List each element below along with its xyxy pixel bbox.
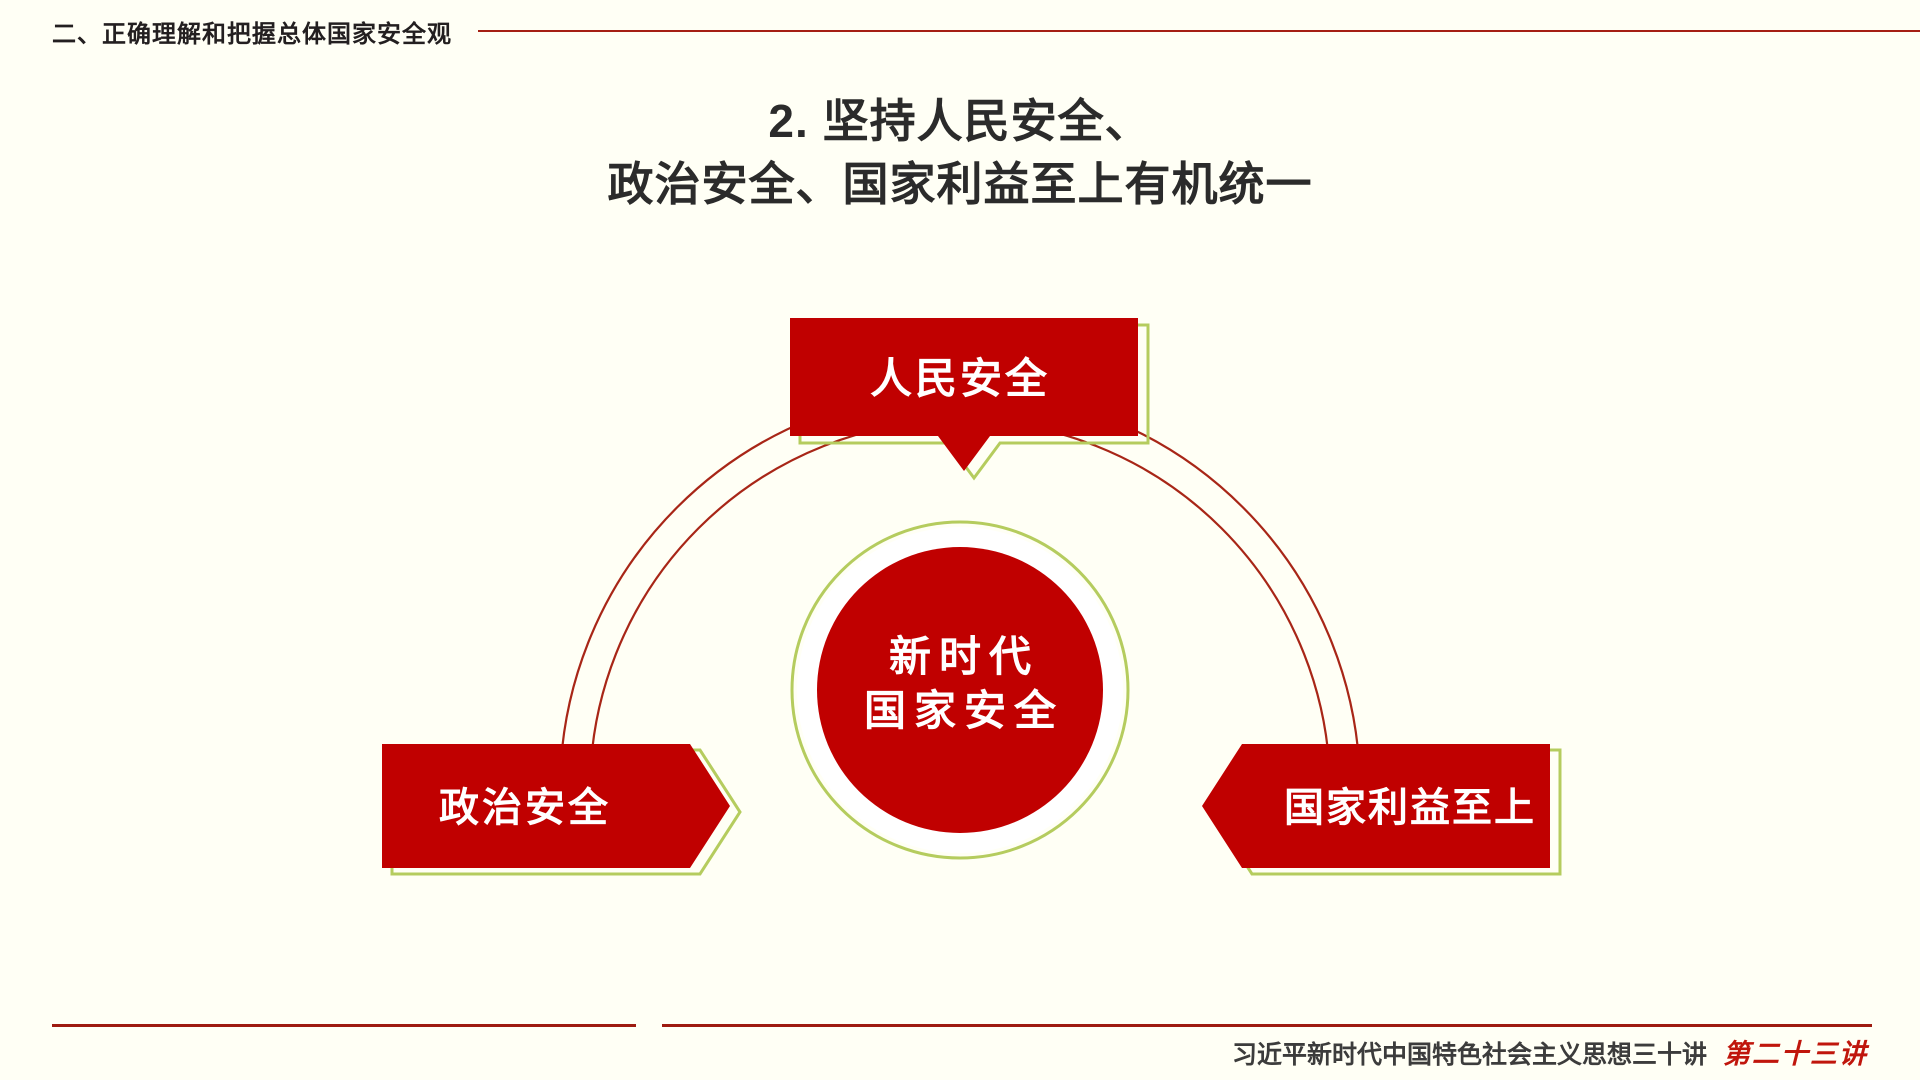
node-right-shape (1202, 744, 1550, 868)
slide-footer: 习近平新时代中国特色社会主义思想三十讲 第二十三讲 (0, 1002, 1920, 1080)
node-top-people-security[interactable] (790, 318, 1148, 478)
footer-book-title: 习近平新时代中国特色社会主义思想三十讲 (1232, 1035, 1707, 1071)
footer-divider-rule (52, 1024, 1872, 1027)
footer-lecture-number: 第二十三讲 (1723, 1032, 1868, 1071)
concept-diagram: 人民安全 政治安全 国家利益至上 新时代 国家安全 (0, 0, 1920, 1080)
center-circle-group[interactable] (792, 522, 1128, 858)
node-top-shape (790, 318, 1138, 471)
node-left-political-security[interactable] (382, 744, 740, 874)
diagram-graphics (0, 0, 1920, 1080)
footer-rule-gap (636, 1020, 662, 1030)
node-left-shape (382, 744, 730, 868)
node-right-national-interest[interactable] (1202, 744, 1560, 874)
center-circle-red-disc (817, 547, 1103, 833)
footer-text-group: 习近平新时代中国特色社会主义思想三十讲 第二十三讲 (1214, 1032, 1868, 1071)
